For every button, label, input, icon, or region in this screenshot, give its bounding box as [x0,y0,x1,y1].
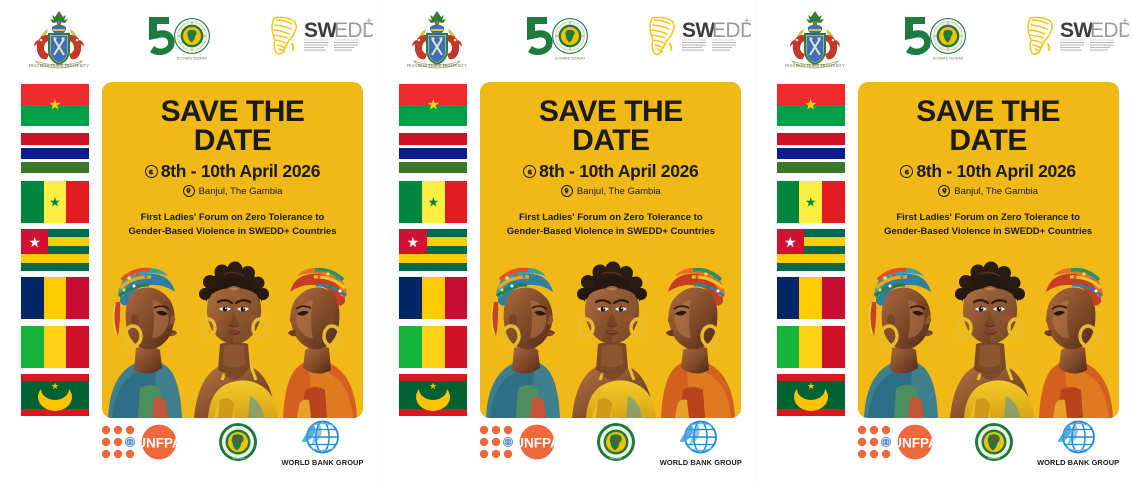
poster-subtitle-line1: First Ladies' Forum on Zero Tolerance to [114,211,351,225]
svg-text:ECOWAS: ECOWAS [987,425,999,429]
flag-column: ★ ★ ★ [399,84,467,416]
flag-mali [777,326,845,368]
poster-location: Banjul, The Gambia [954,186,1038,197]
flag-gambia [21,132,89,174]
poster-date-row: 8th - 10th April 2026 [480,161,741,182]
gambia-coat-of-arms-icon: PROGRESS PEACE PROSPERITY [784,7,846,71]
svg-text:CEDEAO: CEDEAO [988,456,1001,460]
flag-column: ★ ★ ★ [21,84,89,416]
poster-title: SAVE THE DATE [480,97,741,155]
ecowas-seal-icon: ECOWAS CEDEAO [974,422,1014,462]
svg-text:+: + [1122,16,1128,27]
flag-togo: ★ [777,229,845,271]
swedd-logo-icon: SW EDD + [646,10,751,62]
svg-text:PROGRESS PEACE PROSPERITY: PROGRESS PEACE PROSPERITY [784,64,845,68]
unfpa-wordmark: UNFPA [892,436,938,451]
save-the-date-poster: SAVE THE DATE 8th - 10th April 2026 Banj… [858,82,1119,418]
world-bank-group-label: WORLD BANK GROUP [1031,458,1126,467]
calendar-circle-icon [145,165,158,178]
world-bank-group-logo-icon: WORLD BANK GROUP [1031,420,1126,468]
svg-text:SW: SW [1060,19,1093,42]
gambia-coat-of-arms-icon: PROGRESS PEACE PROSPERITY [28,7,90,71]
flag-burkina-faso: ★ [777,84,845,126]
svg-text:+: + [366,16,372,27]
calendar-circle-icon [900,165,913,178]
svg-text:CEDEAO: CEDEAO [610,456,623,460]
poster-panel: PROGRESS PEACE PROSPERITY [755,0,1132,484]
poster-title-line1: SAVE THE [110,97,355,126]
three-women-artwork [102,248,363,418]
location-pin-icon [183,185,195,197]
flag-chad [777,277,845,319]
unfpa-logo-icon: UNFPA [856,424,956,460]
calendar-circle-icon [523,165,536,178]
ecowas-seal-icon: ECOWAS CEDEAO [596,422,636,462]
svg-text:★: ★ [51,381,59,391]
poster-location: Banjul, The Gambia [577,186,661,197]
flag-senegal: ★ [777,181,845,223]
poster-subtitle-line2: Gender-Based Violence in SWEDD+ Countrie… [870,225,1107,239]
poster-subtitle: First Ladies' Forum on Zero Tolerance to… [858,211,1119,239]
flag-mauritania: ★ [399,374,467,416]
svg-text:CEDEAO: CEDEAO [232,456,245,460]
svg-text:ECOWAS CEDEAO: ECOWAS CEDEAO [555,57,586,61]
poster-subtitle: First Ladies' Forum on Zero Tolerance to… [480,211,741,239]
ecowas-50-logo-icon: ECOWAS CEDEAO [145,12,225,62]
svg-text:PROGRESS PEACE PROSPERITY: PROGRESS PEACE PROSPERITY [29,64,90,68]
unfpa-logo-icon: UNFPA [100,424,200,460]
header-logo-row: PROGRESS PEACE PROSPERITY [378,0,754,78]
swedd-logo-icon: SW EDD + [1024,10,1129,62]
partner-logo-row: UNFPA ECOWAS CEDEAO [100,420,372,472]
header-logo-row: PROGRESS PEACE PROSPERITY [756,0,1132,78]
svg-text:SW: SW [304,19,337,42]
poster-date: 8th - 10th April 2026 [916,161,1075,182]
flag-senegal: ★ [21,181,89,223]
poster-date: 8th - 10th April 2026 [161,161,320,182]
poster-strip: PROGRESS PEACE PROSPERITY [0,0,1132,484]
poster-subtitle-line1: First Ladies' Forum on Zero Tolerance to [870,211,1107,225]
world-bank-group-logo-icon: WORLD BANK GROUP [275,420,370,468]
flag-burkina-faso: ★ [21,84,89,126]
world-bank-group-logo-icon: WORLD BANK GROUP [653,420,748,468]
poster-title-line2: DATE [488,126,733,155]
ecowas-50-logo-icon: ECOWAS CEDEAO [901,12,981,62]
world-bank-group-label: WORLD BANK GROUP [275,458,370,467]
three-women-artwork [858,248,1119,418]
poster-title-line2: DATE [110,126,355,155]
poster-title-line1: SAVE THE [866,97,1111,126]
flag-gambia [777,132,845,174]
gambia-coat-of-arms-icon: PROGRESS PEACE PROSPERITY [406,7,468,71]
poster-subtitle-line2: Gender-Based Violence in SWEDD+ Countrie… [114,225,351,239]
flag-mauritania: ★ [21,374,89,416]
poster-date-row: 8th - 10th April 2026 [858,161,1119,182]
three-women-artwork [480,248,741,418]
poster-subtitle-line2: Gender-Based Violence in SWEDD+ Countrie… [492,225,729,239]
ecowas-seal-icon: ECOWAS CEDEAO [218,422,258,462]
svg-text:+: + [744,16,750,27]
poster-title-line2: DATE [866,126,1111,155]
flag-chad [399,277,467,319]
flag-senegal: ★ [399,181,467,223]
ecowas-50-logo-icon: ECOWAS CEDEAO [523,12,603,62]
location-pin-icon [938,185,950,197]
svg-text:ECOWAS CEDEAO: ECOWAS CEDEAO [933,57,964,61]
poster-date: 8th - 10th April 2026 [539,161,698,182]
svg-text:ECOWAS: ECOWAS [232,425,244,429]
flag-burkina-faso: ★ [399,84,467,126]
flag-mali [399,326,467,368]
poster-location: Banjul, The Gambia [199,186,283,197]
poster-subtitle: First Ladies' Forum on Zero Tolerance to… [102,211,363,239]
poster-title: SAVE THE DATE [858,97,1119,155]
unfpa-wordmark: UNFPA [515,436,561,451]
unfpa-logo-icon: UNFPA [478,424,578,460]
partner-logo-row: UNFPA ECOWAS CEDEAO [478,420,750,472]
flag-togo: ★ [21,229,89,271]
svg-text:★: ★ [429,381,437,391]
flag-gambia [399,132,467,174]
flag-column: ★ ★ ★ [777,84,845,416]
poster-panel: PROGRESS PEACE PROSPERITY [0,0,377,484]
poster-title-line1: SAVE THE [488,97,733,126]
poster-panel: PROGRESS PEACE PROSPERITY [377,0,754,484]
svg-text:ECOWAS: ECOWAS [610,425,622,429]
unfpa-wordmark: UNFPA [136,436,182,451]
flag-chad [21,277,89,319]
partner-logo-row: UNFPA ECOWAS CEDEAO [856,420,1128,472]
poster-subtitle-line1: First Ladies' Forum on Zero Tolerance to [492,211,729,225]
world-bank-group-label: WORLD BANK GROUP [653,458,748,467]
location-pin-icon [561,185,573,197]
poster-date-row: 8th - 10th April 2026 [102,161,363,182]
save-the-date-poster: SAVE THE DATE 8th - 10th April 2026 Banj… [480,82,741,418]
flag-togo: ★ [399,229,467,271]
poster-location-row: Banjul, The Gambia [480,185,741,197]
swedd-logo-icon: SW EDD + [268,10,373,62]
flag-mali [21,326,89,368]
svg-text:PROGRESS PEACE PROSPERITY: PROGRESS PEACE PROSPERITY [407,64,468,68]
poster-title: SAVE THE DATE [102,97,363,155]
poster-location-row: Banjul, The Gambia [102,185,363,197]
flag-mauritania: ★ [777,374,845,416]
svg-text:ECOWAS CEDEAO: ECOWAS CEDEAO [177,57,208,61]
save-the-date-poster: SAVE THE DATE 8th - 10th April 2026 Banj… [102,82,363,418]
header-logo-row: PROGRESS PEACE PROSPERITY [0,0,377,78]
poster-location-row: Banjul, The Gambia [858,185,1119,197]
svg-text:SW: SW [682,19,715,42]
svg-text:★: ★ [807,381,815,391]
